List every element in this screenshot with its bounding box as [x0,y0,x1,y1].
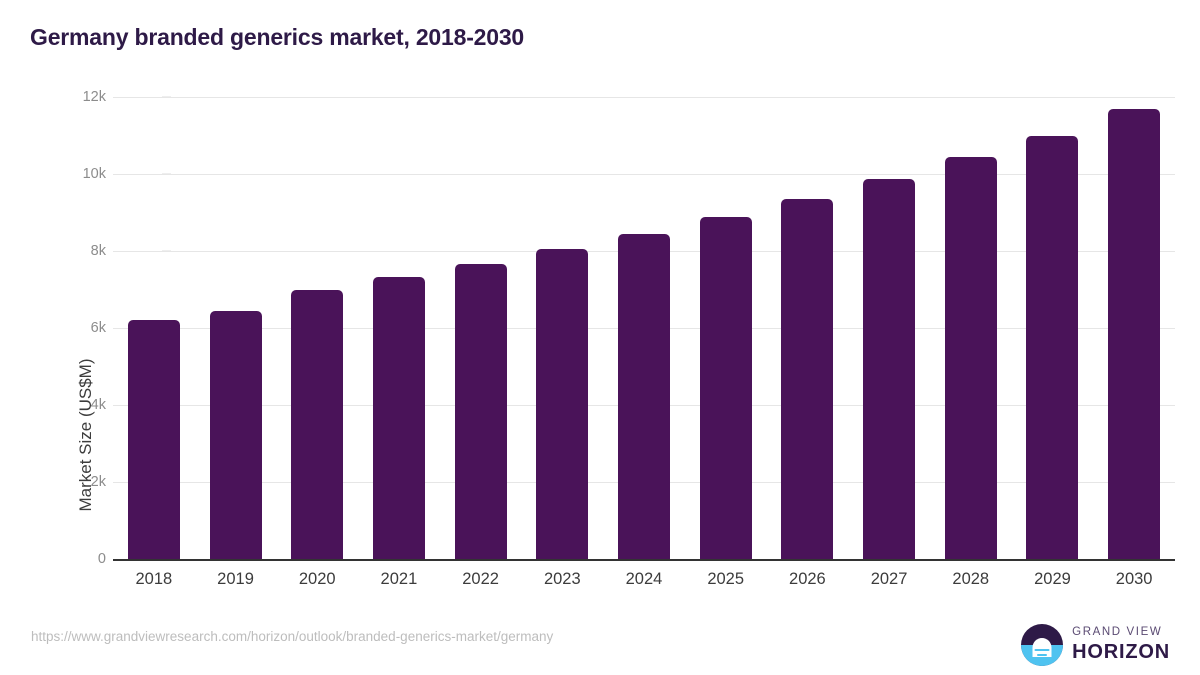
sun-over-water-icon [1021,624,1063,666]
logo-top-text: GRAND VIEW [1072,627,1170,639]
bar[interactable] [128,320,180,559]
x-tick-label: 2024 [603,570,685,589]
x-tick-label: 2023 [521,570,603,589]
x-tick-label: 2025 [685,570,767,589]
bar-slot [440,97,522,559]
bar[interactable] [945,157,997,559]
x-tick-label: 2019 [195,570,277,589]
logo-ray-1 [1035,649,1050,652]
bar[interactable] [863,179,915,559]
page-title: Germany branded generics market, 2018-20… [30,24,524,51]
y-axis-title: Market Size (US$M) [76,235,96,635]
x-tick-label: 2022 [440,570,522,589]
y-tick-label: 10k [83,166,106,182]
bar[interactable] [536,249,588,559]
bar[interactable] [291,290,343,559]
logo-bottom-text: HORIZON [1072,642,1170,662]
x-tick-label: 2030 [1093,570,1175,589]
bar-slot [1012,97,1094,559]
bar[interactable] [373,277,425,559]
bar[interactable] [700,217,752,559]
bar-slot [521,97,603,559]
bar-series [113,97,1175,559]
x-axis-ticks: 2018201920202021202220232024202520262027… [113,565,1175,595]
bar-slot [113,97,195,559]
bar[interactable] [210,311,262,559]
x-tick-label: 2018 [113,570,195,589]
x-tick-label: 2028 [930,570,1012,589]
bar-slot [1093,97,1175,559]
source-url[interactable]: https://www.grandviewresearch.com/horizo… [31,629,553,644]
axis-baseline [113,559,1175,561]
bar-slot [603,97,685,559]
bar-slot [848,97,930,559]
bar[interactable] [781,199,833,559]
bar-slot [358,97,440,559]
grand-view-horizon-logo[interactable]: GRAND VIEW HORIZON [1021,622,1170,667]
bar[interactable] [1108,109,1160,559]
x-tick-label: 2029 [1012,570,1094,589]
chart-card: Germany branded generics market, 2018-20… [0,0,1200,675]
bar-slot [767,97,849,559]
x-tick-label: 2027 [848,570,930,589]
logo-wordmark: GRAND VIEW HORIZON [1072,627,1170,662]
bar-slot [276,97,358,559]
bar[interactable] [455,264,507,559]
y-tick-label: 0 [98,551,106,567]
bar-slot [685,97,767,559]
y-axis-ticks: 02k4k6k8k10k12kMarket Size (US$M) [58,97,106,559]
x-tick-label: 2026 [767,570,849,589]
x-tick-label: 2020 [276,570,358,589]
bar-slot [195,97,277,559]
x-tick-label: 2021 [358,570,440,589]
bar[interactable] [618,234,670,559]
logo-ray-2 [1037,654,1047,657]
bar-slot [930,97,1012,559]
bar[interactable] [1026,136,1078,559]
y-tick-label: 12k [83,89,106,105]
